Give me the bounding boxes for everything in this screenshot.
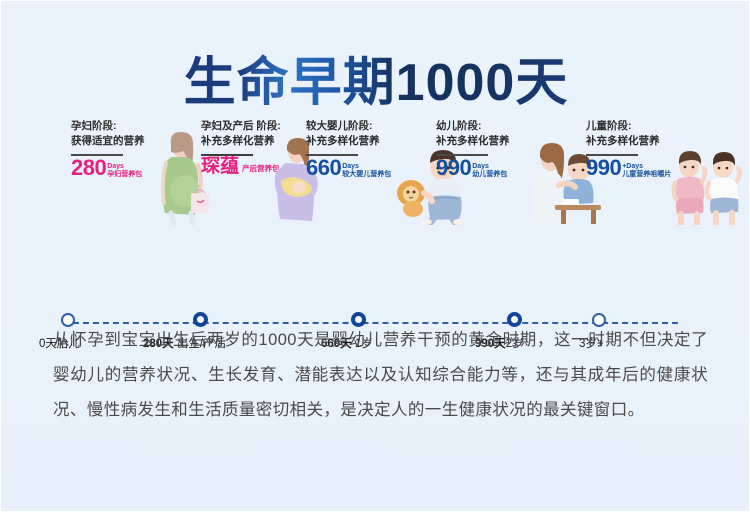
- badge-number: 280: [71, 157, 106, 179]
- infographic-page: 生命早期1000天 孕妇阶段: 获得适宜的营养 280 Days 孕妇营养包: [0, 0, 750, 512]
- badge-sub: Days 孕妇营养包: [107, 163, 142, 179]
- badge-number: 990: [586, 157, 621, 179]
- stage-child: 儿童阶段: 补充多样化营养 990 +Days 儿童营养咀嚼片: [586, 119, 671, 179]
- badge-sub: +Days 儿童营养咀嚼片: [622, 163, 671, 179]
- badge-sub: Days 幼儿营养包: [472, 163, 507, 179]
- badge-product-label: 幼儿营养包: [472, 171, 507, 178]
- stage-older-infant-badge: 660 Days 较大婴儿营养包: [306, 157, 391, 179]
- badge-days-label: Days: [107, 163, 142, 170]
- stage-toddler-badge: 990 Days 幼儿营养包: [436, 157, 510, 179]
- badge-number: 琛蕴: [201, 157, 239, 176]
- badge-days-label: +Days: [622, 163, 671, 170]
- badge-days-label: Days: [472, 163, 507, 170]
- stage-toddler: 幼儿阶段: 补充多样化营养 990 Days 幼儿营养包: [436, 119, 510, 179]
- illustration-two-children: [669, 149, 743, 249]
- badge-product-label: 儿童营养咀嚼片: [622, 171, 671, 178]
- stage-toddler-heading: 幼儿阶段: 补充多样化营养: [436, 119, 510, 149]
- badge-sub: Days 较大婴儿营养包: [342, 163, 391, 179]
- badge-days-label: Days: [342, 163, 391, 170]
- stage-pregnancy: 孕妇阶段: 获得适宜的营养 280 Days 孕妇营养包: [71, 119, 145, 179]
- stage-older-infant-heading: 较大婴儿阶段: 补充多样化营养: [306, 119, 391, 149]
- timeline-section: 孕妇阶段: 获得适宜的营养 280 Days 孕妇营养包: [1, 109, 750, 249]
- badge-number: 660: [306, 157, 341, 179]
- stage-pregnancy-heading: 孕妇阶段: 获得适宜的营养: [71, 119, 145, 149]
- stage-child-badge: 990 +Days 儿童营养咀嚼片: [586, 157, 671, 179]
- stage-older-infant: 较大婴儿阶段: 补充多样化营养 660 Days 较大婴儿营养包: [306, 119, 391, 179]
- badge-product-label: 孕妇营养包: [107, 171, 142, 178]
- stage-pregnancy-badge: 280 Days 孕妇营养包: [71, 157, 145, 179]
- stage-child-heading: 儿童阶段: 补充多样化营养: [586, 119, 671, 149]
- badge-number: 990: [436, 157, 471, 179]
- two-children-icon: [669, 149, 743, 225]
- description-paragraph: 从怀孕到宝宝出生后两岁的1000天是婴幼儿营养干预的黄金时期，这一时期不但决定了…: [53, 323, 708, 429]
- badge-product-label: 较大婴儿营养包: [342, 171, 391, 178]
- page-title: 生命早期1000天: [184, 54, 569, 114]
